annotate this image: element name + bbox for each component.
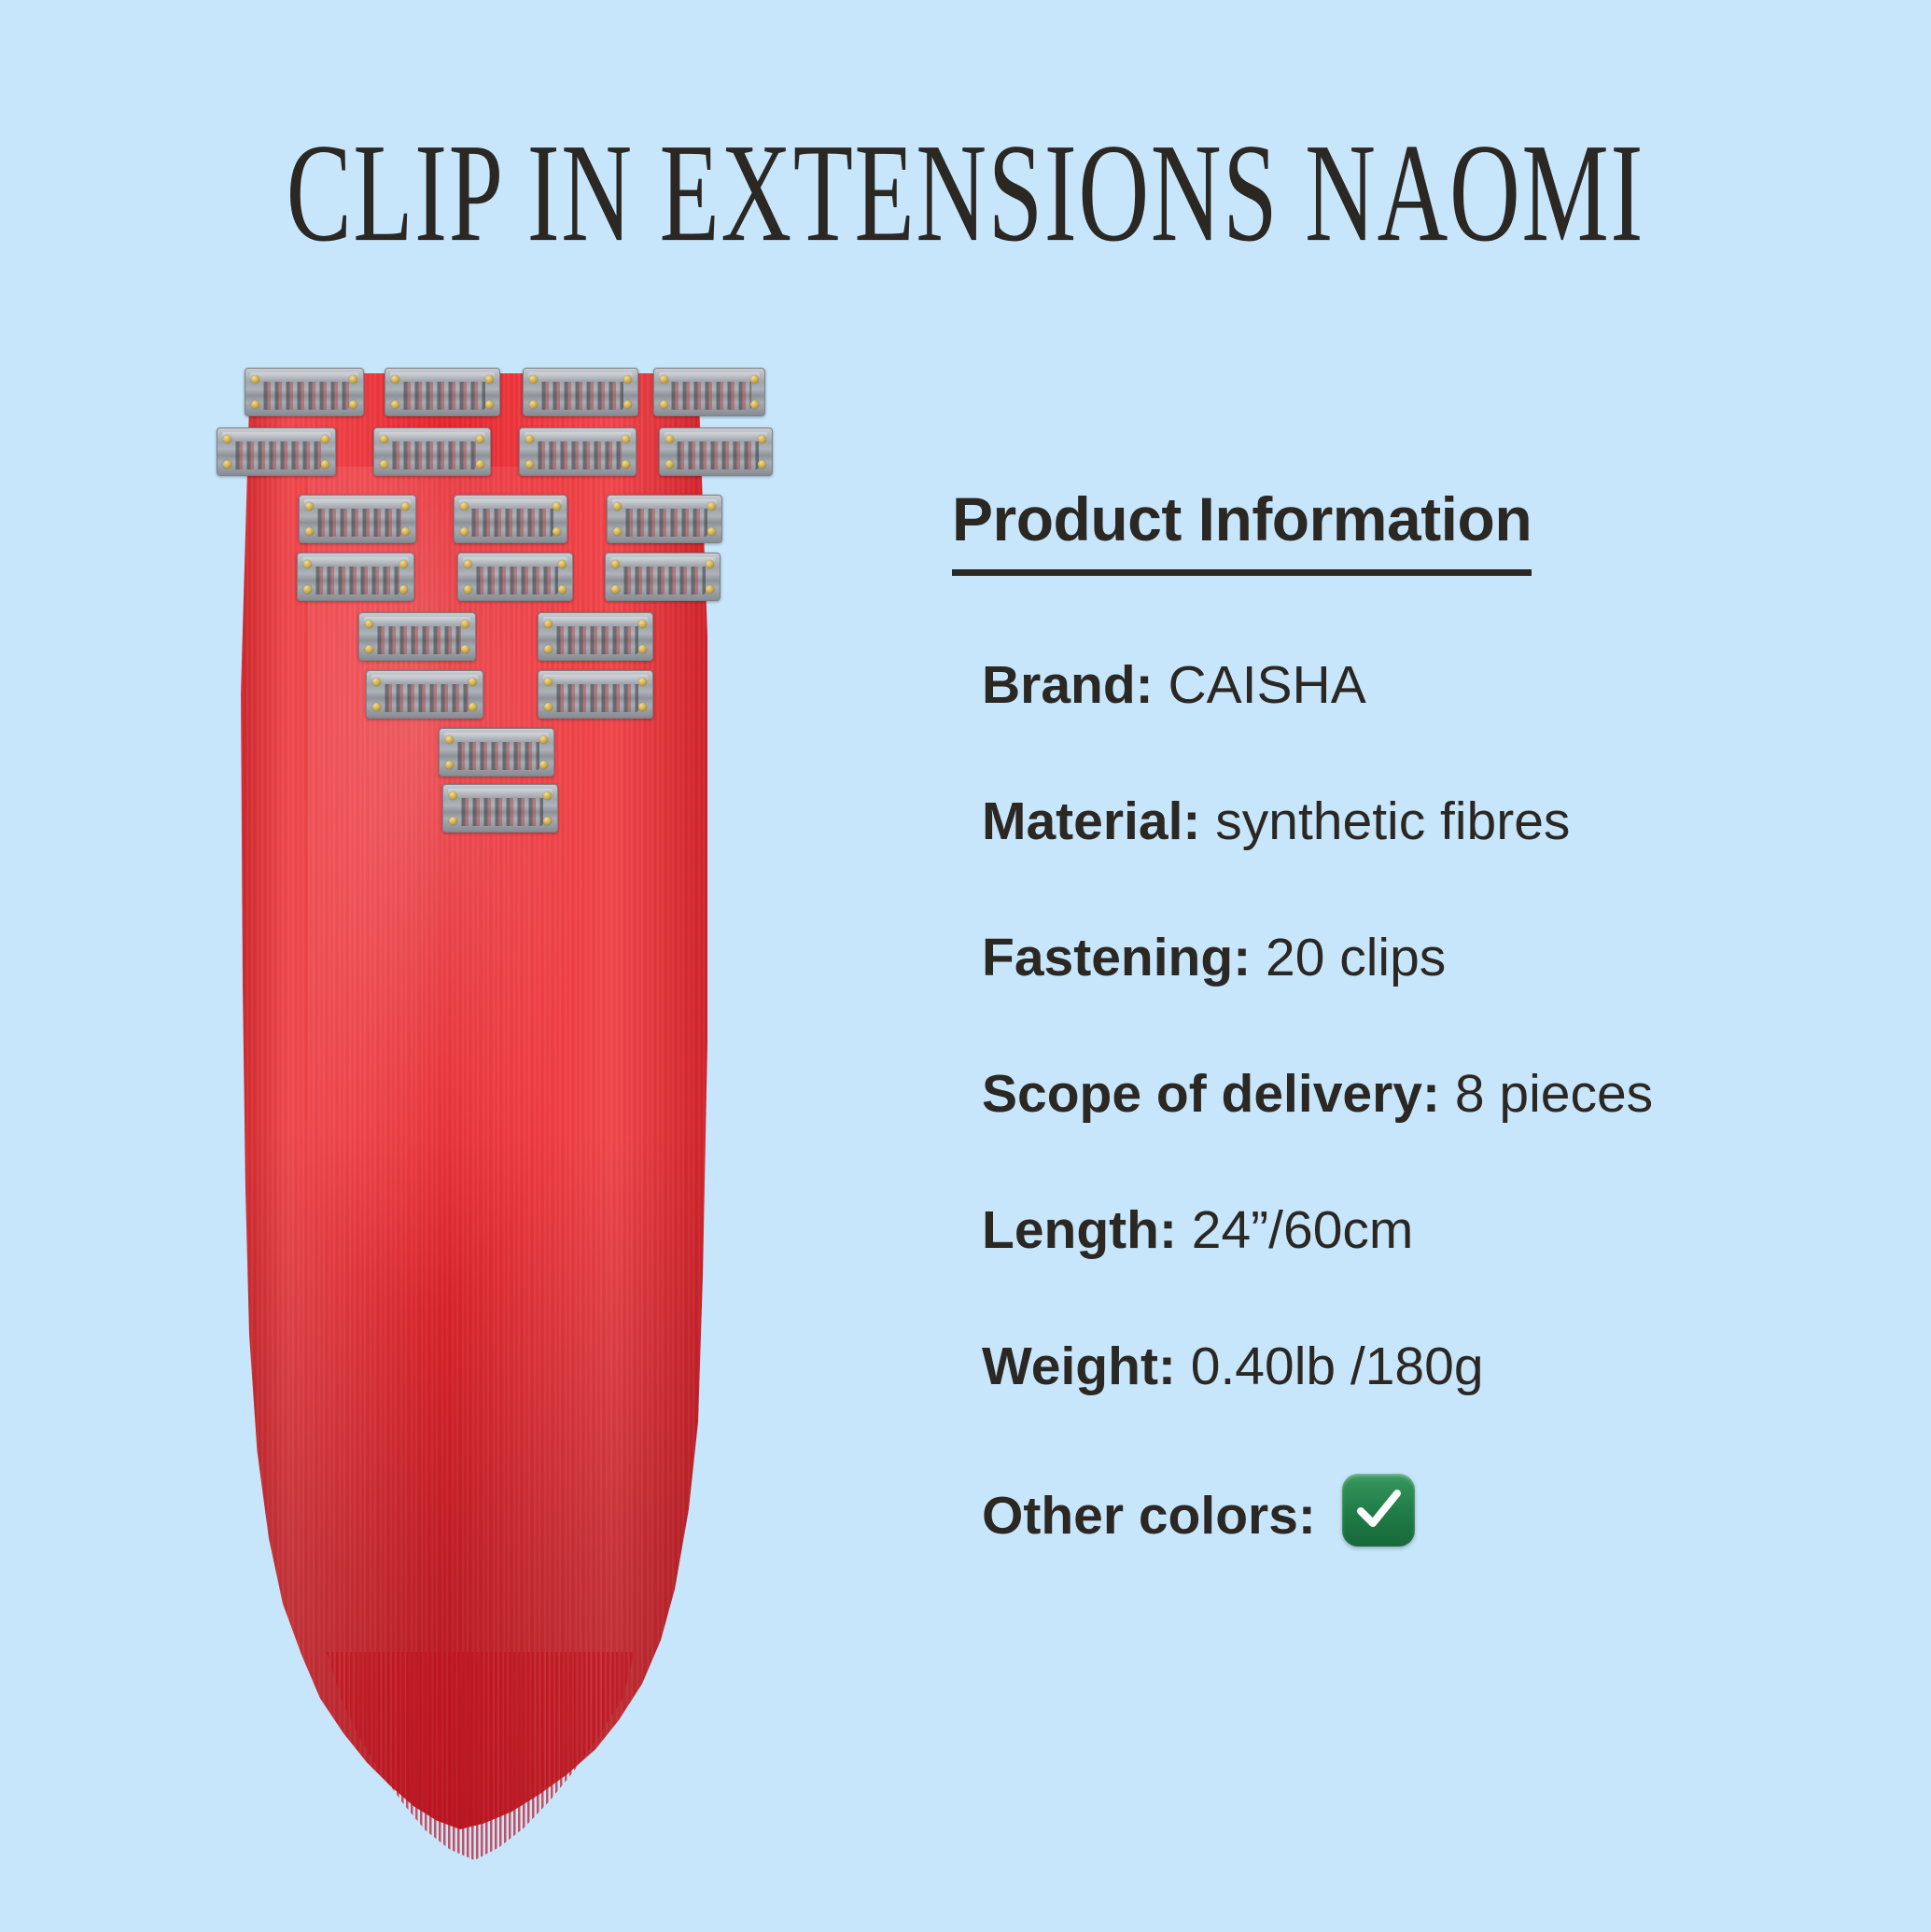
hair-snap-clip bbox=[442, 784, 558, 833]
clip-rivet bbox=[372, 703, 381, 711]
clip-rivet bbox=[525, 460, 534, 469]
clip-rivet bbox=[665, 435, 674, 443]
clip-row bbox=[140, 495, 887, 554]
clip-rivet bbox=[544, 703, 553, 711]
hair-snap-clip bbox=[245, 368, 364, 416]
clip-rivet bbox=[544, 645, 553, 653]
clip-rivet bbox=[750, 400, 759, 409]
info-value-length: 24”/60cm bbox=[1192, 1200, 1414, 1260]
clip-rivet bbox=[321, 460, 329, 469]
clip-rivet bbox=[539, 735, 548, 744]
clip-rivet bbox=[305, 527, 314, 536]
clip-rivet bbox=[365, 620, 373, 628]
clip-rivet bbox=[553, 527, 561, 536]
hair-snap-clip bbox=[439, 728, 554, 777]
clip-rivet bbox=[611, 585, 620, 594]
clip-rivet bbox=[558, 585, 567, 594]
clip-rivet bbox=[460, 527, 469, 536]
hair-snap-clip bbox=[659, 427, 773, 476]
clip-rivet bbox=[469, 678, 477, 686]
hair-snap-clip bbox=[653, 368, 765, 416]
clip-rivet bbox=[469, 703, 477, 711]
clip-rivet bbox=[380, 460, 388, 469]
info-row-other-colors: Other colors: bbox=[952, 1474, 1895, 1547]
info-row-length: Length: 24”/60cm bbox=[952, 1201, 1895, 1259]
clip-rivet bbox=[372, 678, 381, 686]
clip-rivet bbox=[558, 560, 567, 568]
info-label-material: Material: bbox=[982, 791, 1200, 851]
hair-snap-clip bbox=[519, 427, 637, 476]
clip-rivet bbox=[223, 460, 231, 469]
clip-rivet bbox=[223, 435, 231, 443]
clip-row bbox=[140, 784, 887, 844]
clip-rivet bbox=[660, 375, 668, 384]
clip-rivet bbox=[380, 435, 388, 443]
hair-snap-clip bbox=[373, 427, 491, 476]
clip-rivet bbox=[303, 585, 312, 594]
info-value-fastening: 20 clips bbox=[1266, 928, 1446, 987]
clip-rivet bbox=[758, 460, 766, 469]
clip-rivet bbox=[399, 585, 408, 594]
clip-rivet bbox=[445, 761, 454, 769]
clip-rivet bbox=[539, 761, 548, 769]
clip-rivet bbox=[638, 703, 647, 711]
clip-rivet bbox=[485, 375, 494, 384]
clip-rivet bbox=[750, 375, 759, 384]
clip-rivet bbox=[622, 460, 630, 469]
clip-rivet bbox=[464, 585, 472, 594]
hair-snap-clip bbox=[457, 553, 573, 601]
info-row-fastening: Fastening: 20 clips bbox=[952, 929, 1895, 987]
info-label-length: Length: bbox=[982, 1200, 1177, 1260]
clip-rivet bbox=[544, 678, 553, 686]
clip-rivet bbox=[401, 527, 410, 536]
clip-rivet bbox=[321, 435, 329, 443]
hair-tips bbox=[327, 1652, 635, 1867]
info-row-brand: Brand: CAISHA bbox=[952, 656, 1895, 714]
green-check-badge-icon bbox=[1342, 1474, 1415, 1547]
clip-rivet bbox=[543, 817, 552, 825]
clip-rivet bbox=[623, 400, 632, 409]
clip-rivet bbox=[445, 735, 454, 744]
clip-row bbox=[140, 368, 887, 427]
clip-row bbox=[140, 553, 887, 612]
clip-rivet bbox=[623, 375, 632, 384]
clip-rivet bbox=[660, 400, 668, 409]
info-value-scope-of-delivery: 8 pieces bbox=[1455, 1064, 1653, 1124]
clip-rivet bbox=[707, 502, 716, 511]
hair-snap-clip bbox=[605, 553, 721, 601]
hair-snap-clip bbox=[538, 670, 653, 719]
clip-rivet bbox=[553, 502, 561, 511]
clip-rivet bbox=[449, 817, 457, 825]
clip-rivet bbox=[251, 400, 259, 409]
clip-rivet bbox=[638, 645, 647, 653]
hair-snap-clip bbox=[454, 495, 567, 543]
product-information-list: Brand: CAISHA Material: synthetic fibres… bbox=[952, 656, 1895, 1547]
clip-row bbox=[140, 728, 887, 788]
clip-rivet bbox=[706, 560, 714, 568]
clip-rivet bbox=[544, 620, 553, 628]
clip-rivet bbox=[611, 560, 620, 568]
clip-rivet bbox=[638, 678, 647, 686]
product-image bbox=[140, 355, 887, 1885]
clip-rivet bbox=[391, 375, 399, 384]
clip-rivet bbox=[706, 585, 714, 594]
hair-snap-clip bbox=[607, 495, 722, 543]
clip-rivet bbox=[525, 435, 534, 443]
clip-row bbox=[140, 427, 887, 487]
clip-rivet bbox=[464, 560, 472, 568]
clip-rivet bbox=[449, 791, 457, 800]
clip-row bbox=[140, 612, 887, 672]
info-value-brand: CAISHA bbox=[1168, 655, 1366, 715]
info-value-material: synthetic fibres bbox=[1215, 791, 1570, 851]
hair-snap-clip bbox=[297, 553, 414, 601]
clip-rivet bbox=[460, 502, 469, 511]
clip-rivet bbox=[251, 375, 259, 384]
hair-snap-clip bbox=[523, 368, 638, 416]
clip-rivet bbox=[543, 791, 552, 800]
clip-rivet bbox=[305, 502, 314, 511]
clip-rivet bbox=[613, 527, 622, 536]
clip-rivet bbox=[529, 375, 538, 384]
clip-rivet bbox=[529, 400, 538, 409]
clip-rivet bbox=[391, 400, 399, 409]
info-label-scope-of-delivery: Scope of delivery: bbox=[982, 1064, 1440, 1124]
clip-row bbox=[140, 670, 887, 730]
clip-rivet bbox=[622, 435, 630, 443]
info-row-scope-of-delivery: Scope of delivery: 8 pieces bbox=[952, 1065, 1895, 1123]
clip-rivet bbox=[461, 620, 469, 628]
clip-rivet bbox=[638, 620, 647, 628]
info-label-other-colors: Other colors: bbox=[982, 1486, 1316, 1546]
info-row-material: Material: synthetic fibres bbox=[952, 792, 1895, 850]
clip-rivet bbox=[476, 460, 484, 469]
product-information-panel: Product Information Brand: CAISHA Materi… bbox=[952, 485, 1895, 1625]
info-value-weight: 0.40lb /180g bbox=[1191, 1337, 1484, 1396]
clip-rivet bbox=[613, 502, 622, 511]
page-title: CLIP IN EXTENSIONS NAOMI bbox=[0, 123, 1931, 245]
clip-rivet bbox=[303, 560, 312, 568]
clip-rivet bbox=[365, 645, 373, 653]
hair-snap-clip bbox=[217, 427, 336, 476]
clip-rivet bbox=[665, 460, 674, 469]
product-information-heading: Product Information bbox=[952, 485, 1532, 576]
clip-rivet bbox=[399, 560, 408, 568]
clip-rivet bbox=[758, 435, 766, 443]
clip-rivet bbox=[476, 435, 484, 443]
clip-rivet bbox=[485, 400, 494, 409]
clip-rivet bbox=[349, 375, 357, 384]
info-label-brand: Brand: bbox=[982, 655, 1154, 715]
clip-rivet bbox=[401, 502, 410, 511]
hair-snap-clip bbox=[366, 670, 483, 719]
clip-rivet bbox=[349, 400, 357, 409]
info-label-fastening: Fastening: bbox=[982, 928, 1251, 987]
clip-rivet bbox=[707, 527, 716, 536]
hair-snap-clip bbox=[358, 612, 476, 661]
clip-rivet bbox=[461, 645, 469, 653]
hair-snap-clip bbox=[538, 612, 653, 661]
hair-snap-clip bbox=[299, 495, 416, 543]
hair-snap-clip bbox=[385, 368, 500, 416]
info-row-weight: Weight: 0.40lb /180g bbox=[952, 1337, 1895, 1395]
info-label-weight: Weight: bbox=[982, 1337, 1176, 1396]
page-title-text: CLIP IN EXTENSIONS NAOMI bbox=[287, 123, 1644, 262]
